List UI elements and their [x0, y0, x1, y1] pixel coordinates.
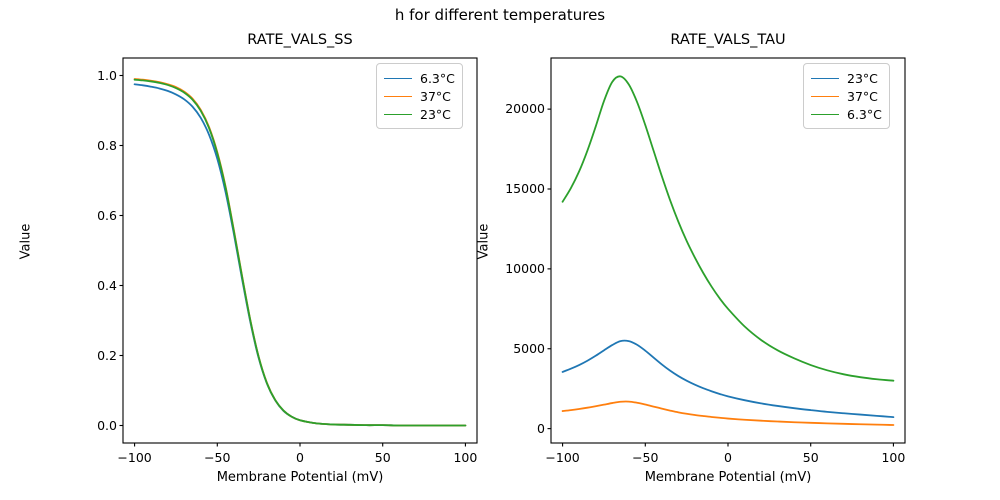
y-tick-label: 5000: [455, 341, 545, 356]
y-tick-label: 0: [455, 421, 545, 436]
y-tick-label: 1.0: [27, 68, 117, 83]
x-tick-label: 50: [771, 450, 851, 465]
xlabel-right: Membrane Potential (mV): [551, 470, 905, 485]
y-tick-label: 0.0: [27, 418, 117, 433]
legend-item[interactable]: 37°C: [811, 87, 882, 105]
x-tick-label: 0: [688, 450, 768, 465]
x-tick-label: 50: [343, 450, 423, 465]
legend-item[interactable]: 6.3°C: [811, 105, 882, 123]
legend-label: 6.3°C: [847, 107, 882, 122]
legend-label: 37°C: [847, 89, 878, 104]
ylabel-right: Value: [477, 182, 492, 302]
x-tick-label: 100: [425, 450, 505, 465]
y-tick-label: 0.4: [27, 278, 117, 293]
x-tick-label: 100: [853, 450, 933, 465]
y-tick-label: 15000: [455, 181, 545, 196]
y-tick-label: 20000: [455, 101, 545, 116]
x-tick-label: −100: [523, 450, 603, 465]
y-tick-label: 10000: [455, 261, 545, 276]
matplotlib-figure: h for different temperatures RATE_VALS_S…: [0, 0, 1000, 500]
legend-swatch-orange: [811, 96, 839, 97]
x-tick-label: 0: [260, 450, 340, 465]
x-tick-label: −100: [95, 450, 175, 465]
x-tick-label: −50: [177, 450, 257, 465]
y-tick-label: 0.6: [27, 208, 117, 223]
legend-right[interactable]: 23°C 37°C 6.3°C: [803, 63, 890, 129]
y-tick-label: 0.8: [27, 138, 117, 153]
legend-swatch-green: [811, 114, 839, 115]
legend-item[interactable]: 23°C: [811, 69, 882, 87]
legend-swatch-blue: [811, 78, 839, 79]
x-tick-label: −50: [605, 450, 685, 465]
legend-label: 23°C: [847, 71, 878, 86]
y-tick-label: 0.2: [27, 348, 117, 363]
data-line-23C: [563, 341, 894, 418]
